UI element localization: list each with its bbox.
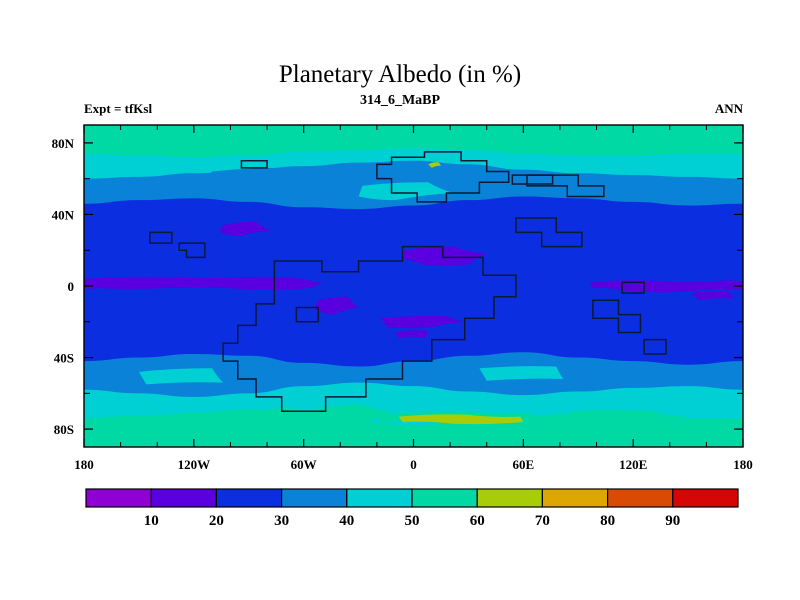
- colorbar-band[interactable]: [282, 489, 347, 507]
- season-label: ANN: [715, 101, 744, 116]
- colorbar-band[interactable]: [151, 489, 216, 507]
- colorbar-tick-label: 50: [405, 513, 420, 529]
- x-axis-tick-label: 0: [410, 457, 417, 472]
- y-axis-tick-label: 80S: [54, 422, 74, 437]
- map-plot-area: 180120W60W060E120E18080N40N040S80S: [52, 125, 753, 472]
- contour-field: [84, 125, 743, 447]
- colorbar-band[interactable]: [86, 489, 151, 507]
- x-axis-tick-label: 180: [74, 457, 94, 472]
- colorbar-tick-label: 10: [144, 513, 159, 529]
- colorbar-band[interactable]: [608, 489, 673, 507]
- y-axis-tick-label: 40S: [54, 351, 74, 366]
- x-axis-tick-label: 60W: [291, 457, 317, 472]
- y-axis-tick-label: 80N: [52, 136, 75, 151]
- colorbar-tick-label: 90: [665, 513, 680, 529]
- colorbar-tick-label: 20: [209, 513, 224, 529]
- colorbar-band[interactable]: [477, 489, 542, 507]
- page-title: Planetary Albedo (in %): [279, 61, 521, 88]
- x-axis-tick-label: 180: [733, 457, 753, 472]
- subtitle: 314_6_MaBP: [360, 93, 441, 108]
- y-axis-tick-label: 40N: [52, 207, 75, 222]
- colorbar-tick-label: 30: [274, 513, 289, 529]
- x-axis-tick-label: 120W: [178, 457, 211, 472]
- colorbar-band[interactable]: [216, 489, 281, 507]
- colorbar-band[interactable]: [347, 489, 412, 507]
- albedo-figure: Planetary Albedo (in %) 314_6_MaBP Expt …: [0, 0, 800, 600]
- colorbar-band[interactable]: [542, 489, 607, 507]
- y-axis-tick-label: 0: [68, 279, 75, 294]
- x-axis-tick-label: 60E: [512, 457, 534, 472]
- experiment-label: Expt = tfKsl: [84, 101, 152, 116]
- colorbar-tick-label: 70: [535, 513, 550, 529]
- x-axis-tick-label: 120E: [619, 457, 647, 472]
- colorbar-tick-label: 40: [339, 513, 354, 529]
- colorbar-band[interactable]: [673, 489, 738, 507]
- colorbar-tick-label: 60: [470, 513, 485, 529]
- colorbar-tick-label: 80: [600, 513, 615, 529]
- colorbar-band[interactable]: [412, 489, 477, 507]
